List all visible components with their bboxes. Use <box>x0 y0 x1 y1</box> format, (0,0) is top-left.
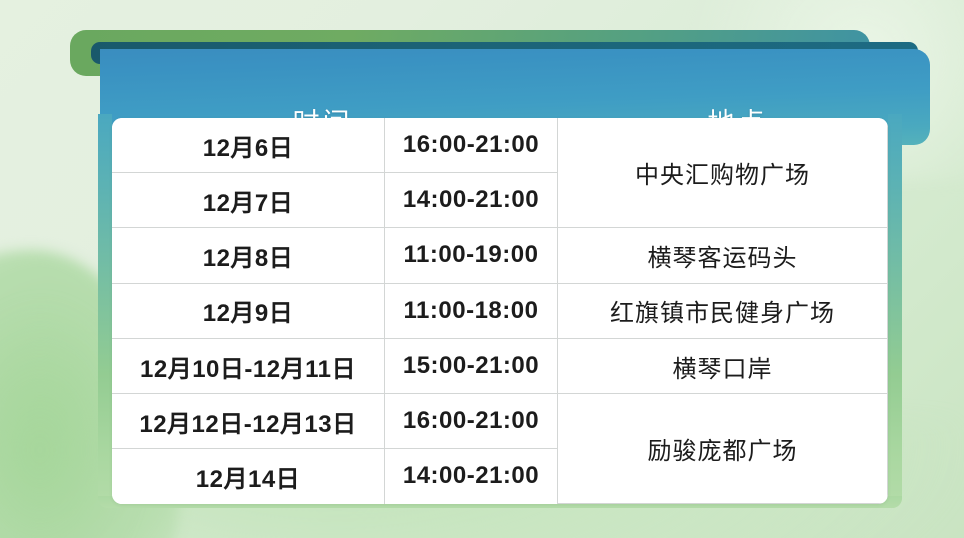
cell-time: 14:00-21:00 <box>385 449 558 504</box>
cell-date: 12月6日 <box>112 118 385 173</box>
cell-date: 12月7日 <box>112 173 385 228</box>
cell-place: 中央汇购物广场 <box>558 118 888 228</box>
table-row: 12月10日-12月11日 15:00-21:00 横琴口岸 <box>112 338 888 393</box>
schedule-table-container: 12月6日 16:00-21:00 中央汇购物广场 12月7日 14:00-21… <box>112 118 888 504</box>
cell-time: 14:00-21:00 <box>385 173 558 228</box>
table-row: 12月6日 16:00-21:00 中央汇购物广场 <box>112 118 888 173</box>
cell-time: 11:00-18:00 <box>385 283 558 338</box>
cell-date: 12月10日-12月11日 <box>112 338 385 393</box>
cell-date: 12月12日-12月13日 <box>112 394 385 449</box>
table-row: 12月12日-12月13日 16:00-21:00 励骏庞都广场 <box>112 394 888 449</box>
cell-date: 12月9日 <box>112 283 385 338</box>
cell-date: 12月14日 <box>112 449 385 504</box>
cell-date: 12月8日 <box>112 228 385 283</box>
schedule-card: 时间 地点 12月6日 16:00-21:00 中央汇购物广场 12月7日 14… <box>70 30 930 508</box>
left-gradient-rail <box>98 114 112 508</box>
cell-place: 励骏庞都广场 <box>558 394 888 504</box>
cell-time: 16:00-21:00 <box>385 118 558 173</box>
poster-page: 时间 地点 12月6日 16:00-21:00 中央汇购物广场 12月7日 14… <box>0 0 964 538</box>
cell-time: 16:00-21:00 <box>385 394 558 449</box>
schedule-table-body: 12月6日 16:00-21:00 中央汇购物广场 12月7日 14:00-21… <box>112 118 888 504</box>
cell-time: 15:00-21:00 <box>385 338 558 393</box>
cell-time: 11:00-19:00 <box>385 228 558 283</box>
cell-place: 红旗镇市民健身广场 <box>558 283 888 338</box>
table-row: 12月8日 11:00-19:00 横琴客运码头 <box>112 228 888 283</box>
schedule-table: 12月6日 16:00-21:00 中央汇购物广场 12月7日 14:00-21… <box>112 118 888 504</box>
right-gradient-rail <box>888 114 902 508</box>
cell-place: 横琴客运码头 <box>558 228 888 283</box>
table-row: 12月9日 11:00-18:00 红旗镇市民健身广场 <box>112 283 888 338</box>
cell-place: 横琴口岸 <box>558 338 888 393</box>
